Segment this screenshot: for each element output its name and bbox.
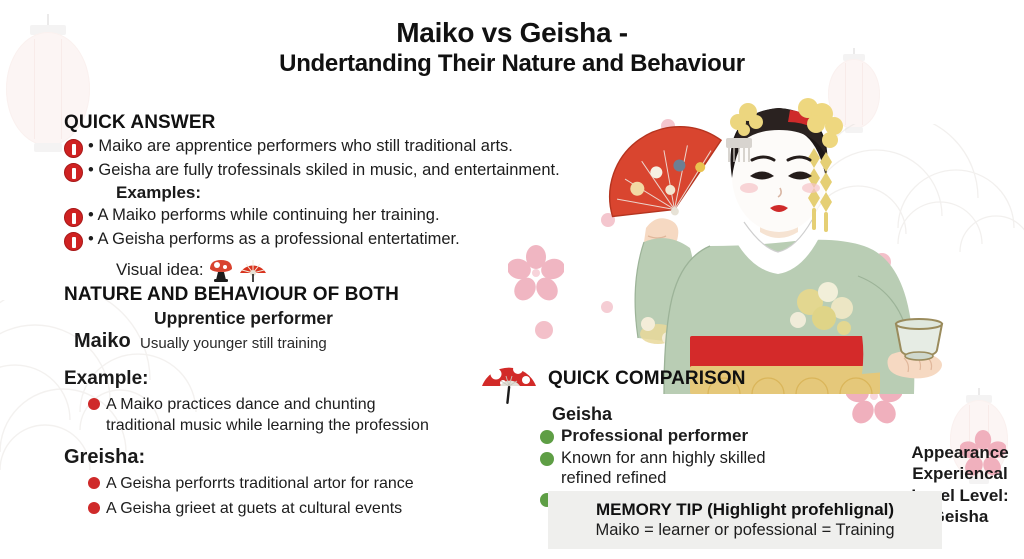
quick-comparison-header: QUICK COMPARISON [478, 352, 998, 406]
green-bullet-icon [540, 452, 554, 466]
examples-label: Examples: [116, 183, 584, 203]
mushroom-icon [208, 257, 234, 283]
list-item: • Maiko are apprentice performers who st… [64, 136, 584, 158]
exclamation-icon [64, 139, 83, 158]
red-bullet-icon [88, 502, 100, 514]
example-bullet-2: • A Geisha performs as a professional en… [88, 229, 460, 250]
list-item: • A Maiko performs while continuing her … [64, 205, 584, 227]
green-bullet-icon [540, 430, 554, 444]
visual-idea-row: Visual idea: [116, 257, 584, 283]
red-bullet-icon [88, 398, 100, 410]
greisha-bullet-1: A Geisha perforrts traditional artor for… [106, 473, 414, 494]
red-fan-icon [478, 352, 540, 406]
nature-section-heading: NATURE AND BEHAVIOUR OF BOTH [64, 284, 584, 306]
memory-tip-subtitle: Maiko = learner or pofessional = Trainin… [596, 521, 895, 540]
quick-comparison-title: QUICK COMPARISON [548, 368, 746, 390]
folding-fan-icon [238, 257, 268, 283]
example-bullet-1: • A Maiko performs while continuing her … [88, 205, 440, 226]
quick-comparison-section: QUICK COMPARISON Geisha Professional per… [478, 352, 998, 509]
list-item: • Geisha are fully trofessinals skiled i… [64, 160, 584, 182]
quick-answer-heading: QUICK ANSWER [64, 112, 584, 134]
maiko-bullet-1: A Maiko practices dance and chunting tra… [106, 394, 429, 436]
maiko-word: Maiko [74, 330, 131, 353]
geisha-woman-illustration [592, 96, 992, 396]
comparison-bullet-1: Professional performer [561, 426, 748, 447]
upprentice-performer-label: Upprentice performer [154, 308, 333, 329]
quick-comparison-subtitle: Geisha [552, 404, 998, 425]
quick-answer-bullet-1: • Maiko are apprentice performers who st… [88, 136, 513, 157]
exclamation-icon [64, 208, 83, 227]
memory-tip-title: MEMORY TIP (Highlight profehlignal) [596, 500, 894, 520]
exclamation-icon [64, 163, 83, 182]
greisha-bullet-2: A Geisha grieet at guets at cultural eve… [106, 498, 402, 519]
right-label-appearance: Appearance [870, 442, 1024, 463]
memory-tip-box: MEMORY TIP (Highlight profehlignal) Maik… [548, 491, 942, 549]
comparison-bullet-2: Known for ann highly skilled refined ref… [561, 448, 766, 488]
title-line-2: Undertanding Their Nature and Behaviour [0, 49, 1024, 79]
visual-idea-label: Visual idea: [116, 260, 204, 280]
maiko-subtext: Usually younger still training [140, 335, 327, 352]
red-bullet-icon [88, 477, 100, 489]
right-label-experiencal: Experiencal [870, 463, 1024, 484]
quick-answer-bullet-2: • Geisha are fully trofessinals skiled i… [88, 160, 560, 181]
page-title: Maiko vs Geisha - Undertanding Their Nat… [0, 18, 1024, 79]
list-item: • A Geisha performs as a professional en… [64, 229, 584, 251]
exclamation-icon [64, 232, 83, 251]
title-line-1: Maiko vs Geisha - [0, 18, 1024, 49]
